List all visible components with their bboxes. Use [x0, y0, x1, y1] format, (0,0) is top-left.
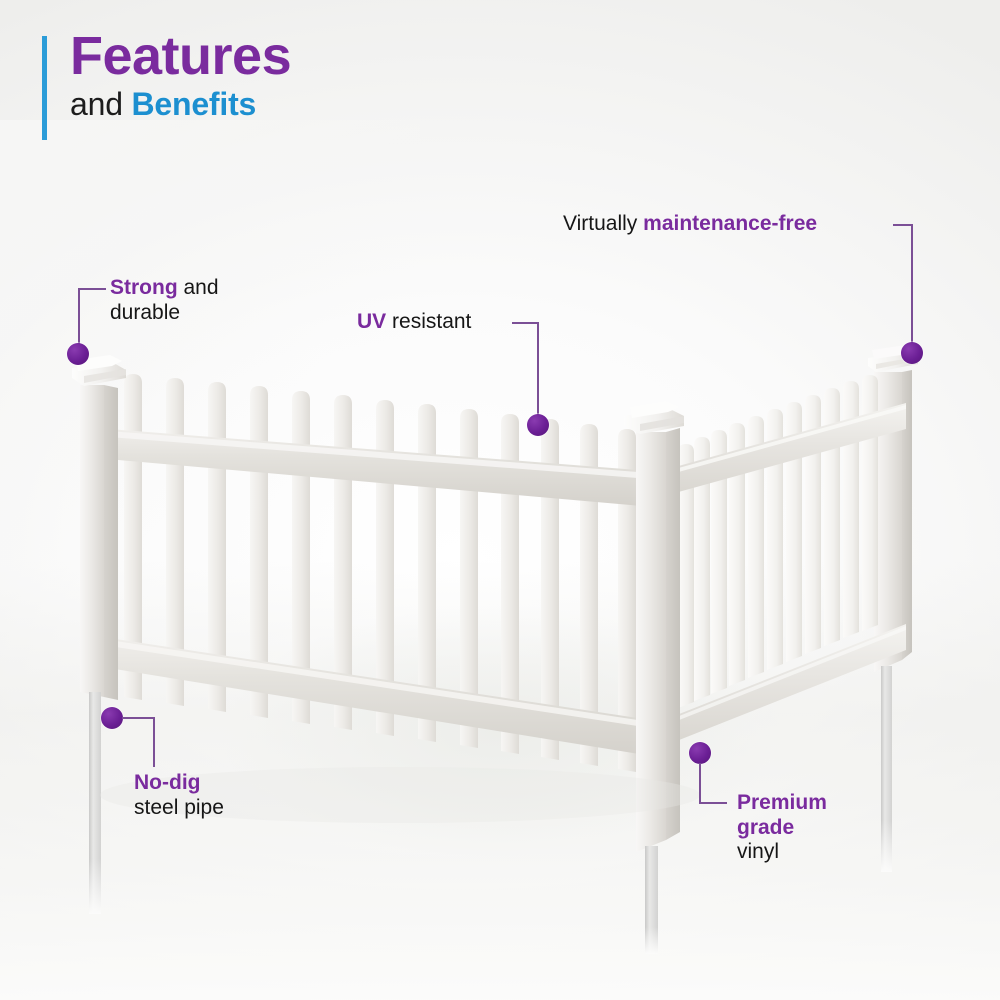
leader-line-v: [911, 224, 913, 354]
subtitle-plain: and: [70, 86, 131, 122]
subtitle-bold: Benefits: [131, 86, 256, 122]
leader-line-h: [78, 288, 106, 290]
callout-label-uv: UV resistant: [357, 310, 471, 335]
callout-rest: resistant: [386, 310, 471, 333]
leader-line-v: [153, 717, 155, 767]
leader-line-h: [512, 322, 538, 324]
callout-label-premium: Premium grade vinyl: [737, 791, 827, 865]
leader-line-h: [893, 224, 913, 226]
callout-label-maintenance: Virtually maintenance-free: [563, 212, 817, 237]
fence-section-left: [72, 355, 664, 914]
callout-line2: steel pipe: [134, 796, 224, 819]
callout-dot-maintenance[interactable]: [901, 342, 923, 364]
callout-dot-strong[interactable]: [67, 343, 89, 365]
callout-dot-premium[interactable]: [689, 742, 711, 764]
vinyl-fence-illustration: [0, 0, 1000, 1000]
callout-line3: vinyl: [737, 840, 779, 863]
callout-highlight: maintenance-free: [643, 212, 817, 235]
callout-highlight: Strong: [110, 276, 178, 299]
leader-line-v: [699, 763, 701, 803]
post-left: [72, 355, 126, 700]
callout-highlight-2: grade: [737, 816, 794, 839]
callout-dot-uv[interactable]: [527, 414, 549, 436]
callout-highlight: No-dig: [134, 771, 200, 794]
page-header: Features and Benefits: [42, 30, 291, 122]
callout-label-strong: Strong and durable: [110, 276, 219, 325]
leader-line-h: [699, 802, 727, 804]
feature-graphic: Features and Benefits Strong and durable…: [0, 0, 1000, 1000]
leader-line-v: [537, 322, 539, 425]
callout-rest: Virtually: [563, 212, 643, 235]
page-subtitle: and Benefits: [70, 87, 291, 122]
steel-pipe-corner: [645, 846, 658, 954]
callout-line2: durable: [110, 301, 180, 324]
header-accent-bar: [42, 36, 47, 140]
steel-pipe-right: [881, 666, 892, 872]
callout-label-nodig: No-dig steel pipe: [134, 771, 224, 820]
callout-rest: and: [178, 276, 219, 299]
leader-line-h: [122, 717, 154, 719]
callout-highlight: Premium: [737, 791, 827, 814]
steel-pipe-left: [89, 692, 101, 914]
callout-highlight: UV: [357, 310, 386, 333]
callout-dot-nodig[interactable]: [101, 707, 123, 729]
page-title: Features: [70, 30, 291, 83]
